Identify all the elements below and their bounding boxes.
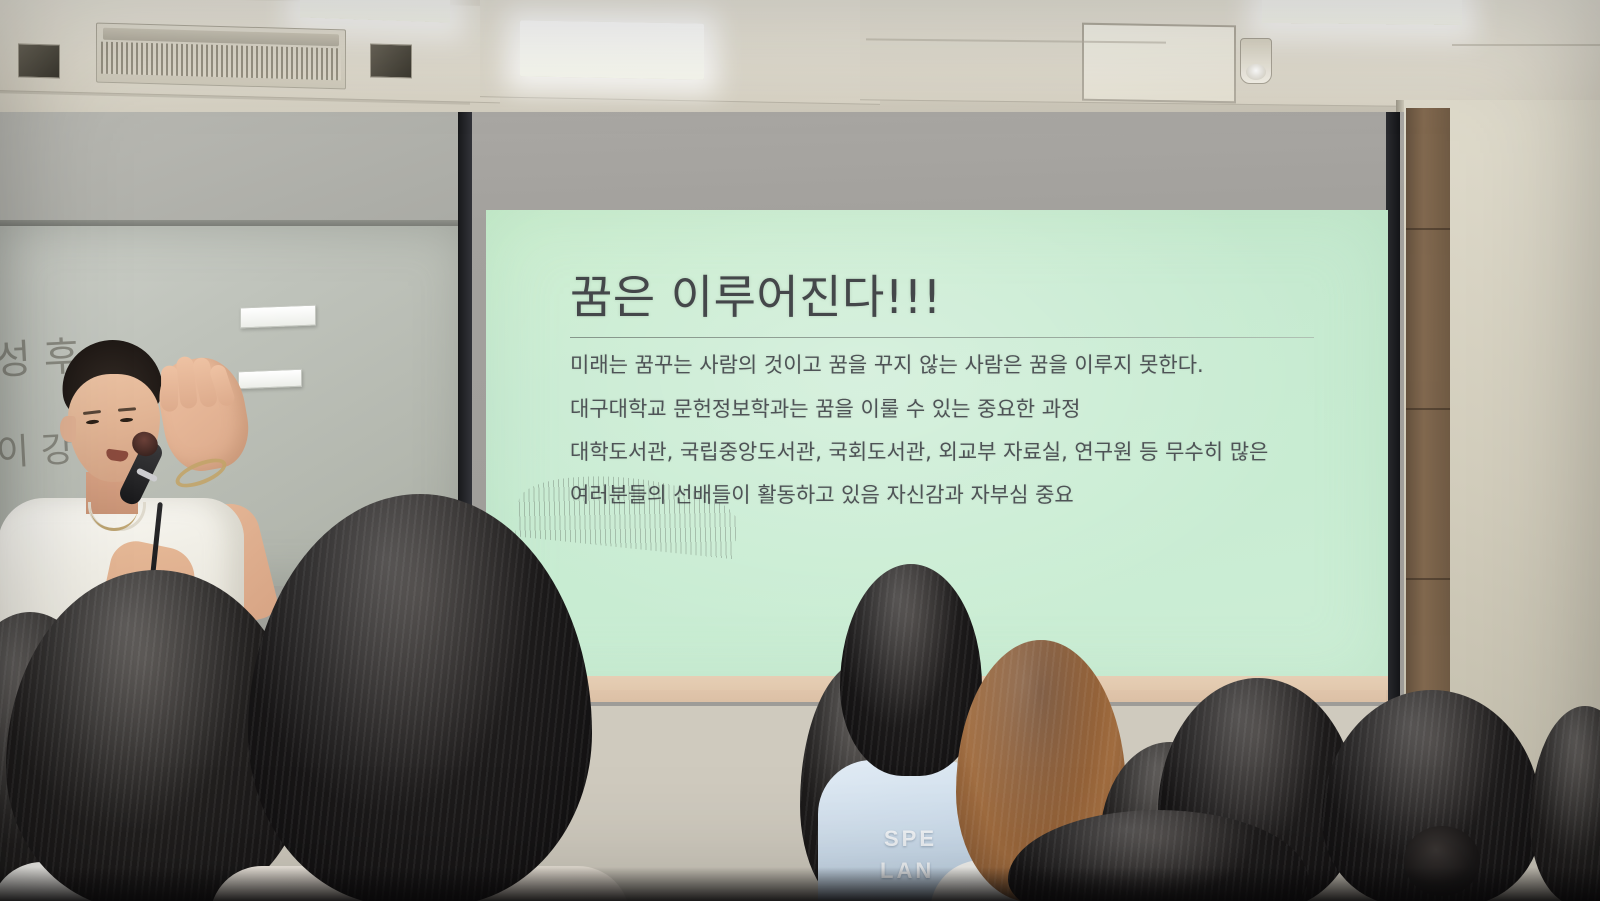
- slide-body-line-3: 대학도서관, 국립중앙도서관, 국회도서관, 외교부 자료실, 연구원 등 무수…: [570, 439, 1324, 465]
- presenter-brow-left: [83, 410, 101, 415]
- presenter-ear: [60, 416, 76, 442]
- ceiling-access-panel: [1082, 23, 1236, 104]
- shirt-text-line-1: SPE: [884, 826, 937, 852]
- presenter-finger-1: [161, 366, 178, 412]
- audience-hair-bun: [1404, 826, 1480, 896]
- slide-title: 꿈은 이루어진다!!!: [570, 272, 1324, 323]
- ceiling: [0, 0, 1600, 124]
- lecture-hall-photo: 성 후 이 강 꿈은 이루어진다!!! 미래는 꿈꾸는 사람의 것이고 꿈을 꾸…: [0, 0, 1600, 901]
- presenter-brow-right: [118, 407, 136, 412]
- slide-body: 미래는 꿈꾸는 사람의 것이고 꿈을 꾸지 않는 사람은 꿈을 이루지 못한다.…: [570, 352, 1324, 509]
- light-panel-right-icon: [1262, 0, 1462, 25]
- presenter-eye-left: [86, 419, 99, 424]
- slide-body-line-2: 대구대학교 문헌정보학과는 꿈을 이룰 수 있는 중요한 과정: [570, 396, 1324, 422]
- slide-divider: [570, 337, 1314, 338]
- presenter-eye-right: [120, 418, 133, 423]
- ac-corner-hole-left: [18, 43, 60, 78]
- whiteboard-magnet-card-1[interactable]: [240, 305, 316, 329]
- slide-body-line-4: 여러분들의 선배들이 활동하고 있음 자신감과 자부심 중요: [570, 482, 1324, 508]
- slide-body-line-1: 미래는 꿈꾸는 사람의 것이고 꿈을 꾸지 않는 사람은 꿈을 이루지 못한다.: [570, 352, 1324, 378]
- ac-vent-icon: [96, 23, 346, 90]
- motion-sensor-icon: [1240, 38, 1272, 84]
- ac-corner-hole-right: [370, 43, 412, 78]
- wood-panel-strip: [1406, 108, 1450, 708]
- shirt-text-line-2: LAN: [880, 858, 934, 884]
- presenter-raised-hand: [153, 352, 255, 477]
- light-panel-center-icon: [520, 20, 704, 79]
- screen-right-edge: [1386, 112, 1400, 708]
